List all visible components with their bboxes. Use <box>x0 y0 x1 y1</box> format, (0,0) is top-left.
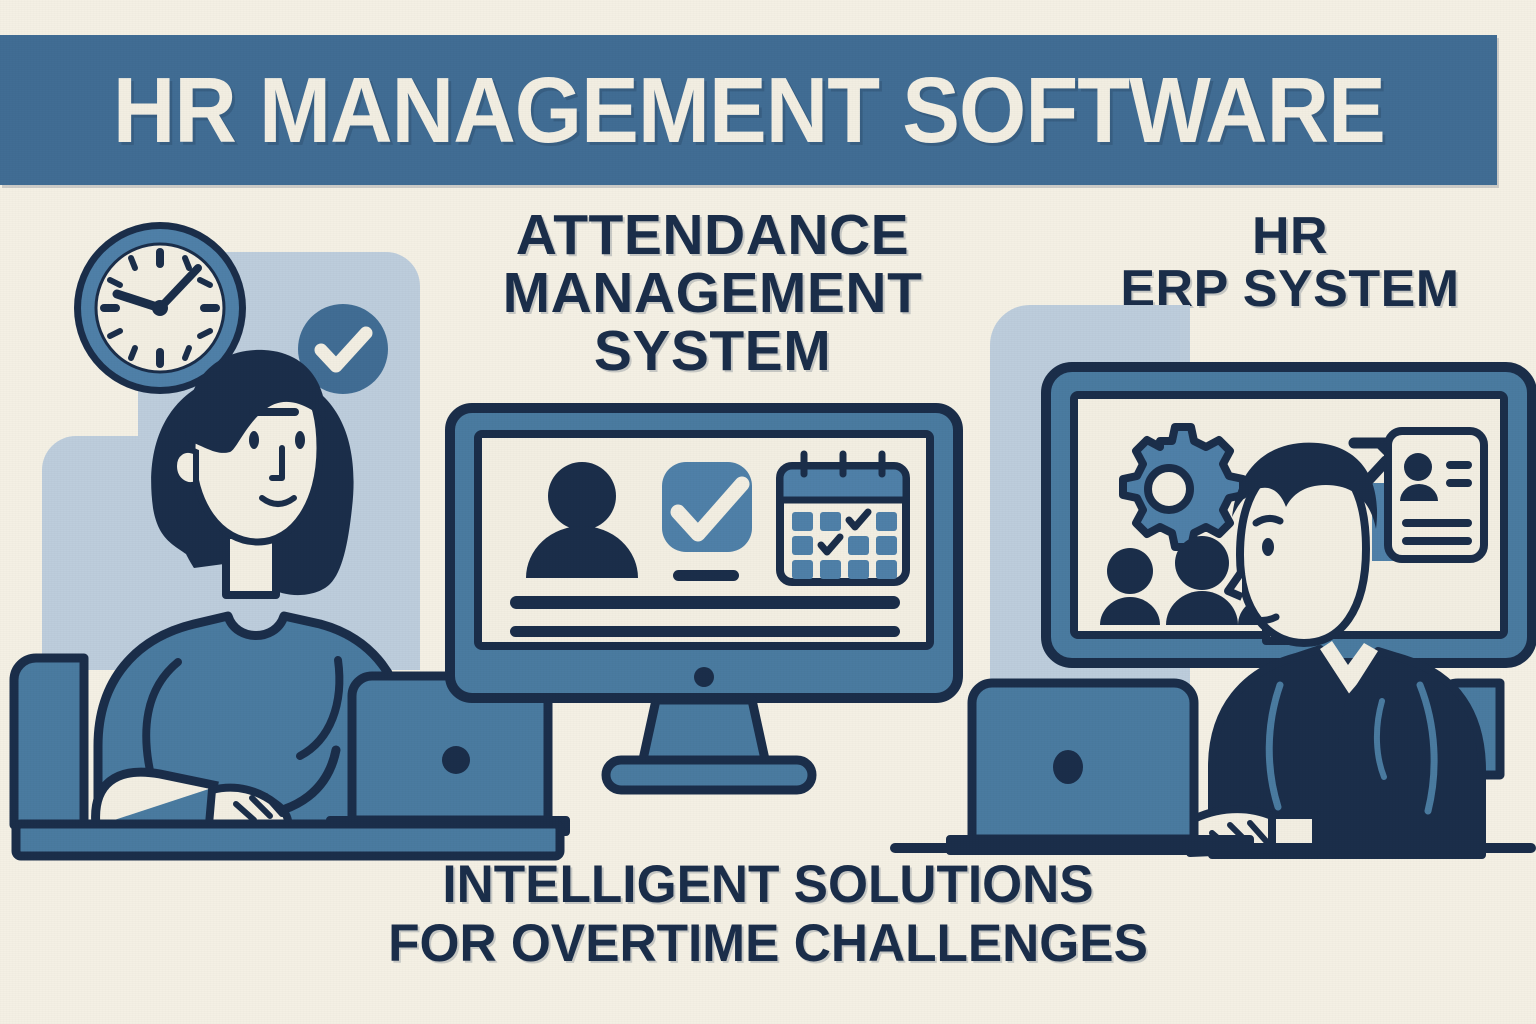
text-line-bar <box>510 626 900 637</box>
calendar-icon <box>780 454 906 582</box>
desk-line <box>890 843 1536 853</box>
monitor-power-dot <box>694 667 714 687</box>
header-banner: HR MANAGEMENT SOFTWARE <box>0 35 1497 185</box>
poster-canvas: HR MANAGEMENT SOFTWARE ATTENDANCE MANAGE… <box>0 0 1536 1024</box>
attendance-monitor-scene <box>440 400 980 840</box>
page-title: HR MANAGEMENT SOFTWARE <box>112 64 1384 157</box>
tagline: INTELLIGENT SOLUTIONS FOR OVERTIME CHALL… <box>283 855 1253 974</box>
gear-icon <box>1123 427 1243 547</box>
id-card-icon <box>1388 431 1484 559</box>
office-chair <box>14 658 84 825</box>
text-line-bar <box>510 596 900 609</box>
hr-erp-dashboard-scene <box>950 255 1536 855</box>
